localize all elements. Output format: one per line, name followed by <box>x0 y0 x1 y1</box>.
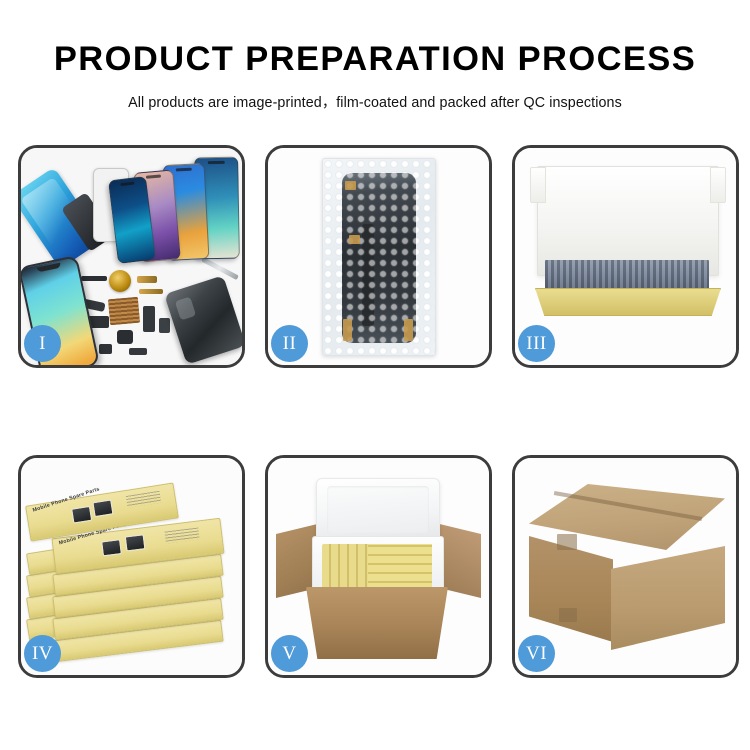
chip-array-icon <box>108 297 140 326</box>
header: PRODUCT PREPARATION PROCESS All products… <box>0 0 750 112</box>
notch-icon <box>176 168 192 172</box>
copper-coil-icon <box>109 270 131 292</box>
notch-icon <box>146 174 161 178</box>
product-window-icon <box>101 539 122 556</box>
notch-icon <box>120 181 135 186</box>
gold-connector-icon <box>137 276 157 283</box>
step-badge-5: V <box>271 635 308 672</box>
page-subtitle: All products are image-printed，film-coat… <box>0 77 750 112</box>
carton-tab-icon <box>559 608 577 622</box>
step-badge-6: VI <box>518 635 555 672</box>
packed-retail-boxes-icon <box>322 544 432 590</box>
component-icon <box>129 348 147 355</box>
bubble-wrap-bag-icon <box>322 158 436 356</box>
process-step-panel-1: I <box>18 145 245 368</box>
step-badge-3: III <box>518 325 555 362</box>
process-step-panel-2: II <box>265 145 492 368</box>
carton-front-icon <box>306 587 448 659</box>
flex-cable-icon <box>81 276 107 281</box>
process-step-panel-5: V <box>265 455 492 678</box>
notch-icon <box>208 161 225 164</box>
retail-box-stack: Mobile Phone Spare Parts Mobile Phone Sp… <box>27 480 239 660</box>
process-step-panel-3: III <box>512 145 739 368</box>
phone-fan-group <box>113 156 242 266</box>
carton-left-face-icon <box>529 536 613 642</box>
step-badge-1: I <box>24 325 61 362</box>
gold-connector-icon <box>139 289 163 294</box>
component-icon <box>143 306 155 332</box>
tape-icon <box>349 235 360 244</box>
spec-lines-icon <box>164 528 199 544</box>
foam-lid-icon <box>316 478 440 542</box>
process-step-panel-6: VI <box>512 455 739 678</box>
tape-icon <box>345 181 356 190</box>
camera-module-icon <box>117 330 133 344</box>
inner-box-front-icon <box>535 288 721 316</box>
phone-back-housing-icon <box>164 275 242 365</box>
product-window-icon <box>125 534 146 551</box>
spec-lines-icon <box>126 491 161 508</box>
carton-tab-icon <box>557 534 577 550</box>
wrapped-lcd-icon <box>342 173 416 343</box>
tape-icon <box>404 319 413 341</box>
step-badge-4: IV <box>24 635 61 672</box>
process-step-grid: I II III <box>18 145 740 678</box>
tape-icon <box>343 319 352 341</box>
process-step-panel-4: Mobile Phone Spare Parts Mobile Phone Sp… <box>18 455 245 678</box>
bubble-wrapped-contents-icon <box>545 260 709 290</box>
carton-right-face-icon <box>611 546 725 650</box>
component-icon <box>159 318 170 333</box>
component-icon <box>99 344 112 354</box>
product-window-icon <box>71 506 92 524</box>
step-badge-2: II <box>271 325 308 362</box>
page-title: PRODUCT PREPARATION PROCESS <box>0 0 750 77</box>
product-window-icon <box>92 499 113 517</box>
